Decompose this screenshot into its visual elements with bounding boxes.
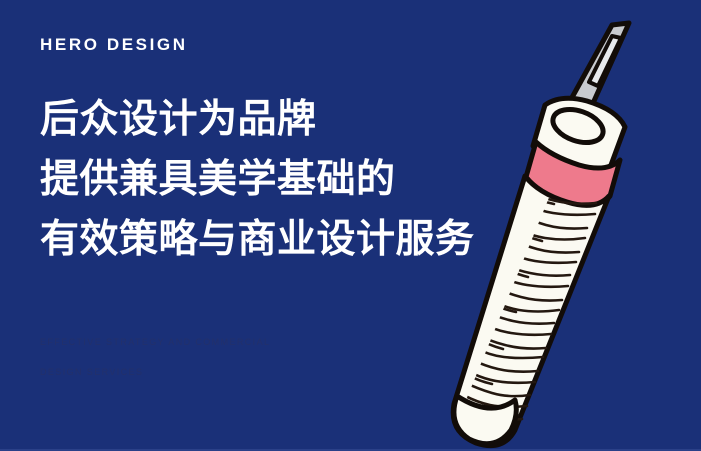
text-block: HERO DESIGN 后众设计为品牌 提供兼具美学基础的 有效策略与商业设计服… xyxy=(40,36,520,387)
headline-line-3: 有效策略与商业设计服务 xyxy=(40,210,520,270)
brand-eyebrow: HERO DESIGN xyxy=(40,36,520,53)
headline: 后众设计为品牌 提供兼具美学基础的 有效策略与商业设计服务 xyxy=(40,90,520,270)
blade-shank xyxy=(552,106,587,147)
grip-band-group xyxy=(526,142,620,206)
hero-banner: HERO DESIGN 后众设计为品牌 提供兼具美学基础的 有效策略与商业设计服… xyxy=(0,0,701,451)
blade-group xyxy=(552,23,629,147)
headline-line-1: 后众设计为品牌 xyxy=(40,90,520,150)
handle-cap-shape xyxy=(454,396,516,444)
blade-highlight-icon xyxy=(589,36,621,86)
blade-shape xyxy=(564,23,629,121)
handle-cap-group xyxy=(454,396,516,444)
subtext-line-2: DESIGN SERVICES xyxy=(40,357,520,387)
ferrule-group xyxy=(533,98,625,176)
subtext-line-1: EFFECTIVE STRATEGY AND COMMERCIAL xyxy=(40,327,520,357)
grip-band-shape xyxy=(526,142,620,206)
headline-line-2: 提供兼具美学基础的 xyxy=(40,150,520,210)
ferrule-opening xyxy=(549,103,608,148)
subtext: EFFECTIVE STRATEGY AND COMMERCIAL DESIGN… xyxy=(40,327,520,387)
ferrule-shape xyxy=(533,98,625,176)
